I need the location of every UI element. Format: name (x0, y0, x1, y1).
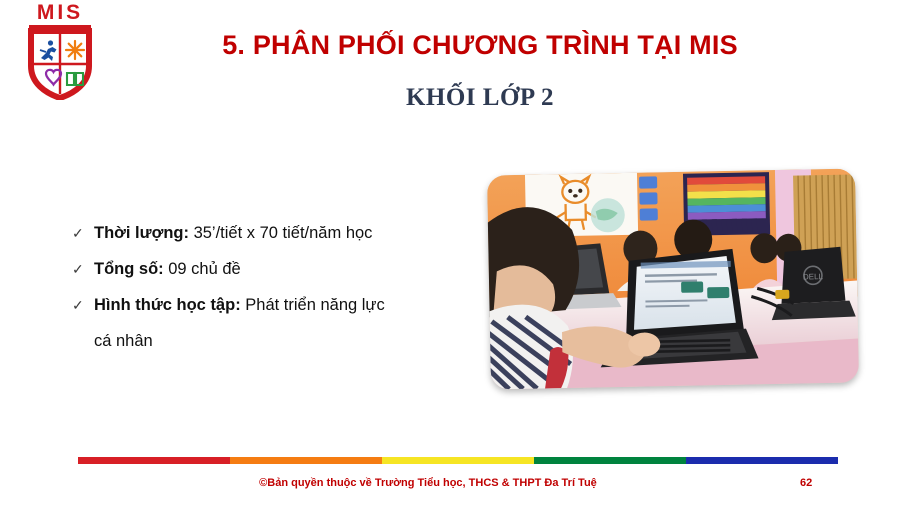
list-item-value: 09 chủ đề (164, 260, 241, 278)
list-item: ✓ Tổng số: 09 chủ đề (72, 251, 472, 287)
list-item-label: Thời lượng: (94, 224, 189, 242)
checkmark-icon: ✓ (72, 251, 94, 287)
color-segment-yellow (382, 457, 534, 464)
list-item-value: Phát triển năng lực (241, 296, 385, 314)
page-number: 62 (800, 476, 840, 490)
list-item-continuation: cá nhân (94, 323, 472, 359)
color-segment-red (78, 457, 230, 464)
copyright-text: ©Bản quyền thuộc về Trường Tiểu học, THC… (78, 476, 778, 490)
color-segment-orange (230, 457, 382, 464)
shield-icon (28, 28, 92, 100)
list-item-label: Tổng số: (94, 260, 164, 278)
classroom-photo: DELL (487, 168, 859, 389)
logo-wordmark: MIS (20, 2, 100, 23)
list-item: ✓ Hình thức học tập: Phát triển năng lực (72, 287, 472, 323)
footer-color-bar (78, 457, 838, 464)
page-title: 5. PHÂN PHỐI CHƯƠNG TRÌNH TẠI MIS (120, 28, 840, 62)
bullet-list: ✓ Thời lượng: 35’/tiết x 70 tiết/năm học… (72, 215, 472, 359)
list-item-value: 35’/tiết x 70 tiết/năm học (189, 224, 372, 242)
list-item-text: Tổng số: 09 chủ đề (94, 251, 472, 287)
mis-logo: MIS (20, 2, 100, 102)
list-item-text: Hình thức học tập: Phát triển năng lực (94, 287, 472, 323)
svg-text:DELL: DELL (803, 272, 824, 281)
color-segment-green (534, 457, 686, 464)
checkmark-icon: ✓ (72, 215, 94, 251)
list-item-label: Hình thức học tập: (94, 296, 241, 314)
checkmark-icon: ✓ (72, 287, 94, 323)
slide: MIS (0, 0, 900, 506)
list-item: ✓ Thời lượng: 35’/tiết x 70 tiết/năm học (72, 215, 472, 251)
list-item-text: Thời lượng: 35’/tiết x 70 tiết/năm học (94, 215, 472, 251)
page-subtitle: KHỐI LỚP 2 (120, 83, 840, 113)
starburst-icon (66, 41, 84, 59)
color-segment-blue (686, 457, 838, 464)
